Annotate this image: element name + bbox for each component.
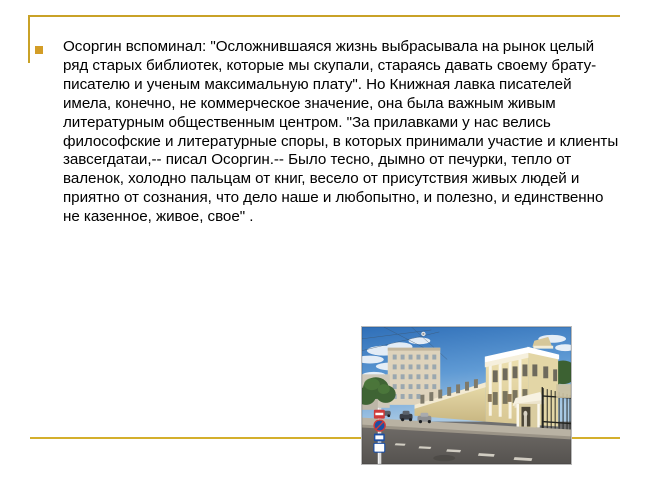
top-gold-rule: [28, 15, 620, 17]
photo-illustration: [362, 327, 571, 464]
street-photograph-of-classical-building: [361, 326, 572, 465]
square-bullet-icon: [35, 46, 43, 54]
left-gold-rule: [28, 15, 30, 63]
body-paragraph: Осоргин вспоминал: "Осложнившаяся жизнь …: [63, 38, 623, 227]
slide-canvas: Осоргин вспоминал: "Осложнившаяся жизнь …: [0, 0, 653, 490]
body-content: Осоргин вспоминал: "Осложнившаяся жизнь …: [35, 38, 623, 227]
bullet-list-item: Осоргин вспоминал: "Осложнившаяся жизнь …: [35, 38, 623, 227]
